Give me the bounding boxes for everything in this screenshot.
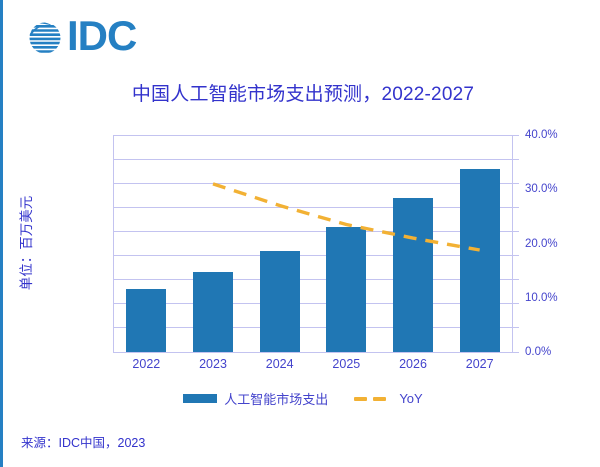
axis-tick bbox=[513, 255, 519, 256]
svg-text:IDC: IDC bbox=[67, 16, 137, 59]
chart-page: IDC 中国人工智能市场支出预测，2022-2027 单位：百万美元 05,00… bbox=[0, 0, 600, 467]
idc-logo: IDC bbox=[25, 16, 177, 60]
axis-tick bbox=[513, 352, 519, 353]
source-note: 来源：IDC中国，2023 bbox=[21, 432, 145, 451]
y-axis-right-labels: 0.0%10.0%20.0%30.0%40.0% bbox=[113, 135, 513, 352]
x-axis-tick-label: 2026 bbox=[399, 357, 427, 371]
x-axis-tick-label: 2027 bbox=[466, 357, 494, 371]
axis-tick bbox=[513, 303, 519, 304]
axis-tick bbox=[513, 159, 519, 160]
legend-item-line[interactable]: YoY bbox=[354, 391, 422, 406]
idc-globe-icon bbox=[25, 18, 65, 58]
y-axis-right-tick-label: 40.0% bbox=[525, 129, 595, 141]
y-axis-title: 单位：百万美元 bbox=[15, 196, 35, 291]
axis-tick bbox=[513, 231, 519, 232]
x-axis-tick-label: 2023 bbox=[199, 357, 227, 371]
axis-tick bbox=[513, 183, 519, 184]
idc-wordmark: IDC bbox=[67, 16, 177, 60]
y-axis-right-tick-label: 30.0% bbox=[525, 183, 595, 195]
legend-bar-swatch bbox=[183, 394, 217, 403]
plot-area: 05,00010,00015,00020,00025,00030,00035,0… bbox=[113, 135, 513, 352]
legend-line-swatch bbox=[354, 393, 392, 404]
axis-tick bbox=[513, 135, 519, 136]
y-axis-right-tick-label: 0.0% bbox=[525, 346, 595, 358]
y-axis-right-tick-label: 10.0% bbox=[525, 292, 595, 304]
legend-line-label: YoY bbox=[399, 391, 422, 406]
chart-title: 中国人工智能市场支出预测，2022-2027 bbox=[3, 79, 600, 106]
axis-tick bbox=[513, 327, 519, 328]
axis-tick bbox=[513, 207, 519, 208]
y-axis-right-tick-label: 20.0% bbox=[525, 238, 595, 250]
legend-item-bar[interactable]: 人工智能市场支出 bbox=[183, 389, 328, 408]
chart-legend: 人工智能市场支出 YoY bbox=[3, 389, 600, 408]
axis-tick bbox=[513, 279, 519, 280]
legend-bar-label: 人工智能市场支出 bbox=[224, 389, 328, 408]
x-axis-tick-label: 2024 bbox=[266, 357, 294, 371]
x-axis-labels: 202220232024202520262027 bbox=[113, 357, 513, 379]
x-axis-tick-label: 2025 bbox=[332, 357, 360, 371]
x-axis-tick-label: 2022 bbox=[132, 357, 160, 371]
